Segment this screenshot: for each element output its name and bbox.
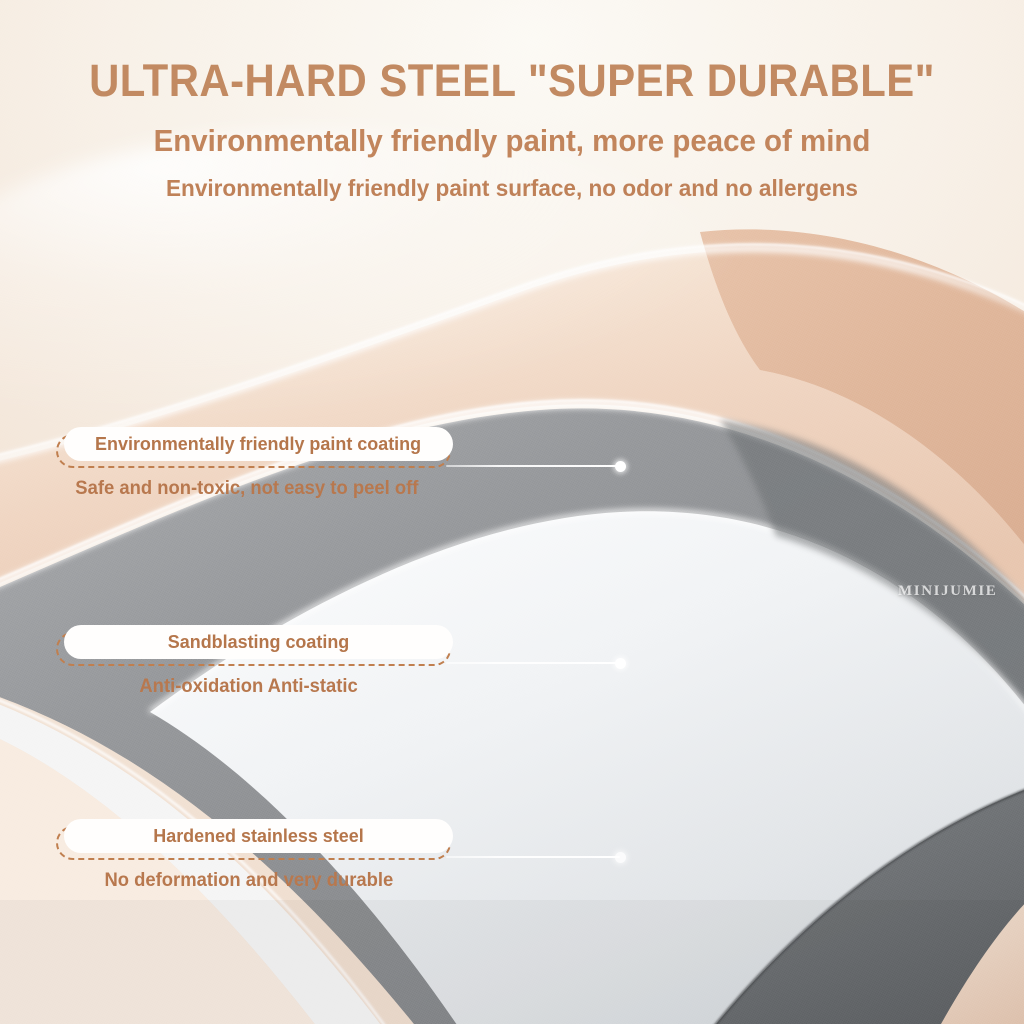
leader-dot-paint-coating [615, 461, 626, 472]
product-infographic: ULTRA-HARD STEEL "SUPER DURABLE" Environ… [0, 0, 1024, 1024]
callout-sandblasting: Sandblasting coating Anti-oxidation Anti… [56, 625, 451, 666]
callout-label: Environmentally friendly paint coating [95, 435, 421, 454]
leader-dot-stainless-steel [615, 852, 626, 863]
leader-dot-sandblasting [615, 658, 626, 669]
callout-pill[interactable]: Environmentally friendly paint coating [64, 427, 453, 461]
callout-pill-wrapper: Hardened stainless steel [56, 819, 451, 860]
callout-pill[interactable]: Sandblasting coating [64, 625, 453, 659]
leader-line-paint-coating [446, 465, 620, 467]
leader-line-stainless-steel [446, 856, 620, 858]
callout-pill-wrapper: Sandblasting coating [56, 625, 451, 666]
subtitle-primary: Environmentally friendly paint, more pea… [26, 125, 999, 156]
callout-label: Sandblasting coating [168, 633, 349, 652]
callout-caption: Safe and non-toxic, not easy to peel off [75, 479, 418, 498]
callout-label: Hardened stainless steel [153, 827, 363, 846]
callout-caption: Anti-oxidation Anti-static [139, 677, 357, 696]
header-block: ULTRA-HARD STEEL "SUPER DURABLE" Environ… [0, 0, 1024, 201]
callout-caption: No deformation and very durable [104, 871, 393, 890]
callout-stainless-steel: Hardened stainless steel No deformation … [56, 819, 451, 860]
callout-pill-wrapper: Environmentally friendly paint coating [56, 427, 451, 468]
leader-line-sandblasting [446, 662, 620, 664]
page-title: ULTRA-HARD STEEL "SUPER DURABLE" [36, 58, 988, 103]
subtitle-secondary: Environmentally friendly paint surface, … [20, 177, 1003, 201]
callout-pill[interactable]: Hardened stainless steel [64, 819, 453, 853]
callout-paint-coating: Environmentally friendly paint coating S… [56, 427, 451, 468]
